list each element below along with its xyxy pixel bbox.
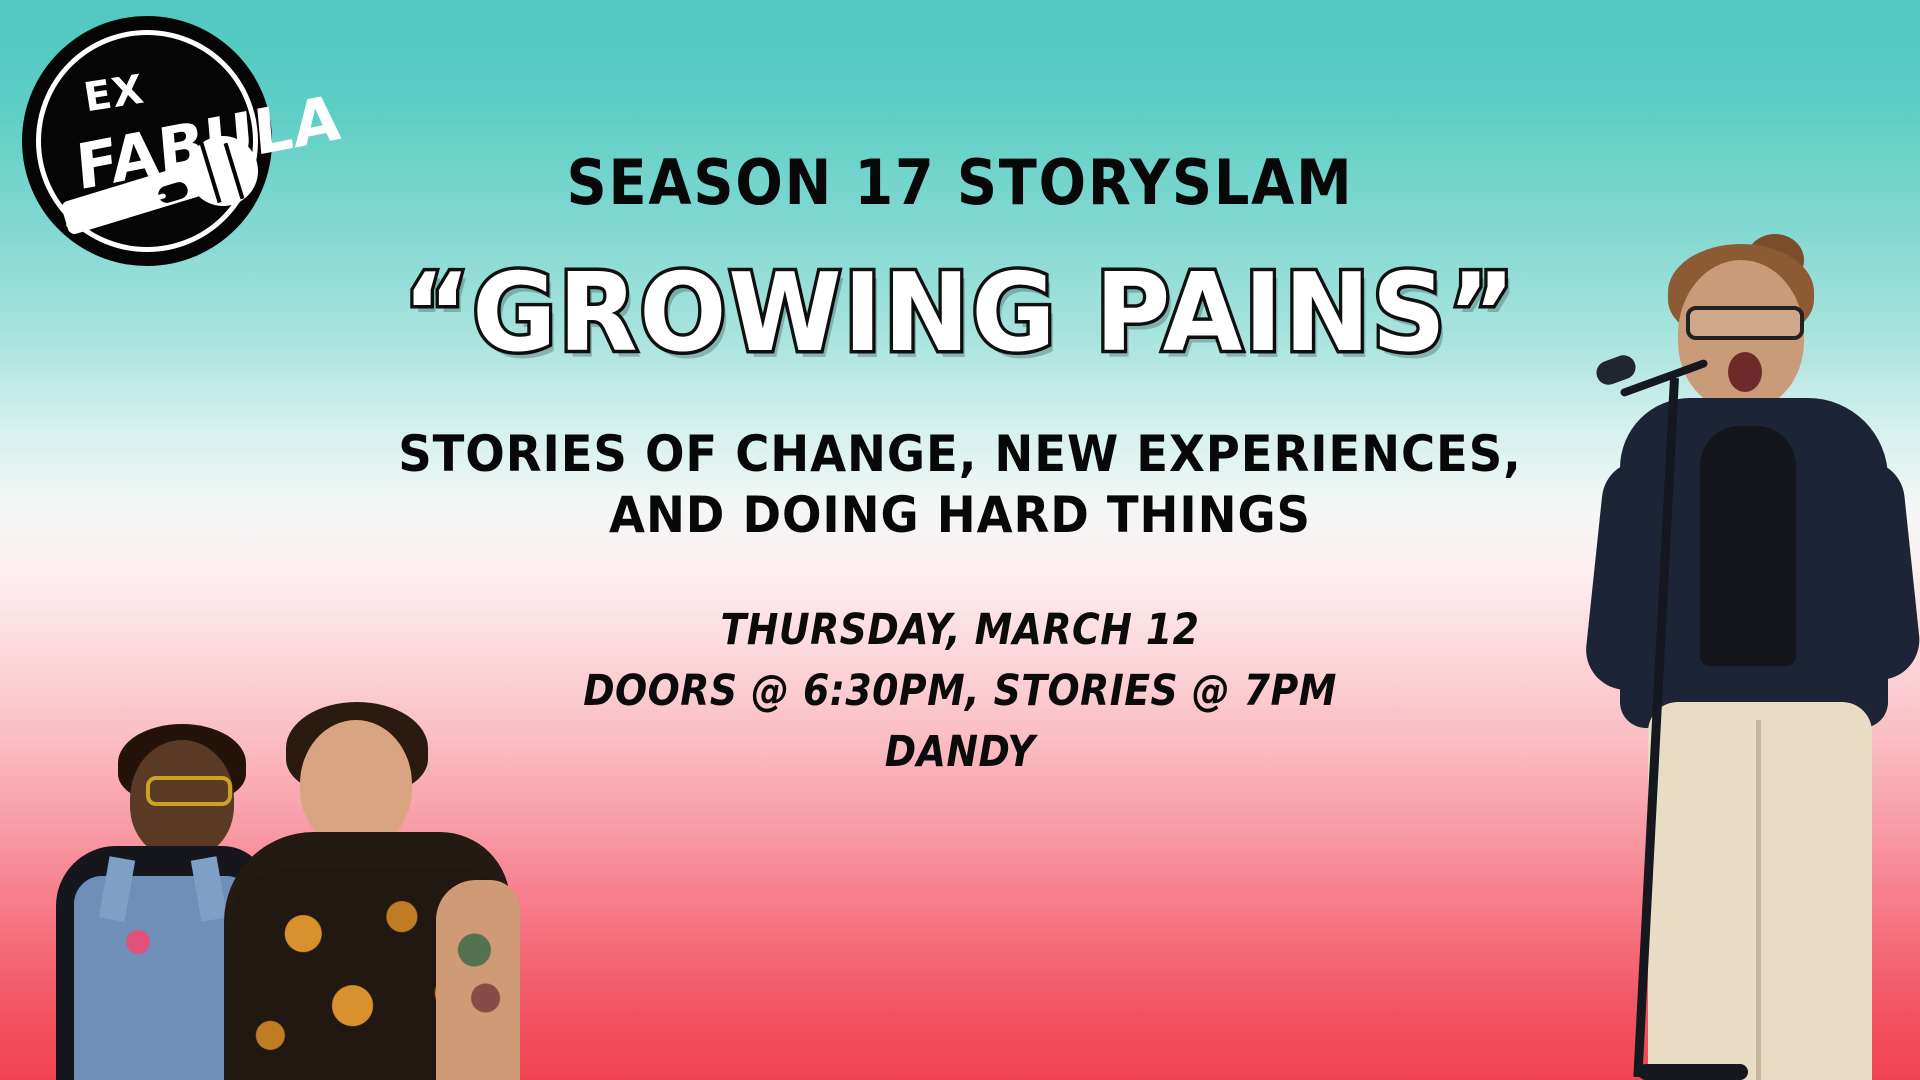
event-poster: EX FABULA SEASON 17 STORYSLAM “GROWING P… bbox=[0, 0, 1920, 1080]
storyteller-one-strap-right bbox=[191, 856, 227, 922]
subtitle-line-1: STORIES OF CHANGE, NEW EXPERIENCES, bbox=[67, 424, 1853, 485]
page-title: “GROWING PAINS” bbox=[48, 260, 1872, 368]
poster-content: SEASON 17 STORYSLAM “GROWING PAINS” STOR… bbox=[0, 0, 1920, 783]
event-date: THURSDAY, MARCH 12 bbox=[115, 600, 1805, 661]
storyteller-one-button bbox=[126, 930, 150, 954]
subtitle-line-2: AND DOING HARD THINGS bbox=[67, 485, 1853, 546]
event-details: THURSDAY, MARCH 12 DOORS @ 6:30PM, STORI… bbox=[115, 600, 1805, 783]
storyteller-two-dress bbox=[232, 870, 506, 1080]
event-times: DOORS @ 6:30PM, STORIES @ 7PM bbox=[115, 661, 1805, 722]
storyteller-two-arm bbox=[436, 880, 520, 1080]
event-venue: DANDY bbox=[115, 722, 1805, 783]
storyteller-two-body bbox=[224, 832, 510, 1080]
microphone-base-icon bbox=[1638, 1064, 1748, 1080]
storyteller-two-tattoo bbox=[452, 926, 508, 1046]
storyteller-one-strap-left bbox=[99, 856, 135, 922]
poster-subtitle: STORIES OF CHANGE, NEW EXPERIENCES, AND … bbox=[67, 424, 1853, 546]
season-kicker: SEASON 17 STORYSLAM bbox=[96, 152, 1824, 214]
storyteller-one-body bbox=[56, 846, 270, 1080]
storyteller-one-overalls bbox=[74, 876, 254, 1080]
